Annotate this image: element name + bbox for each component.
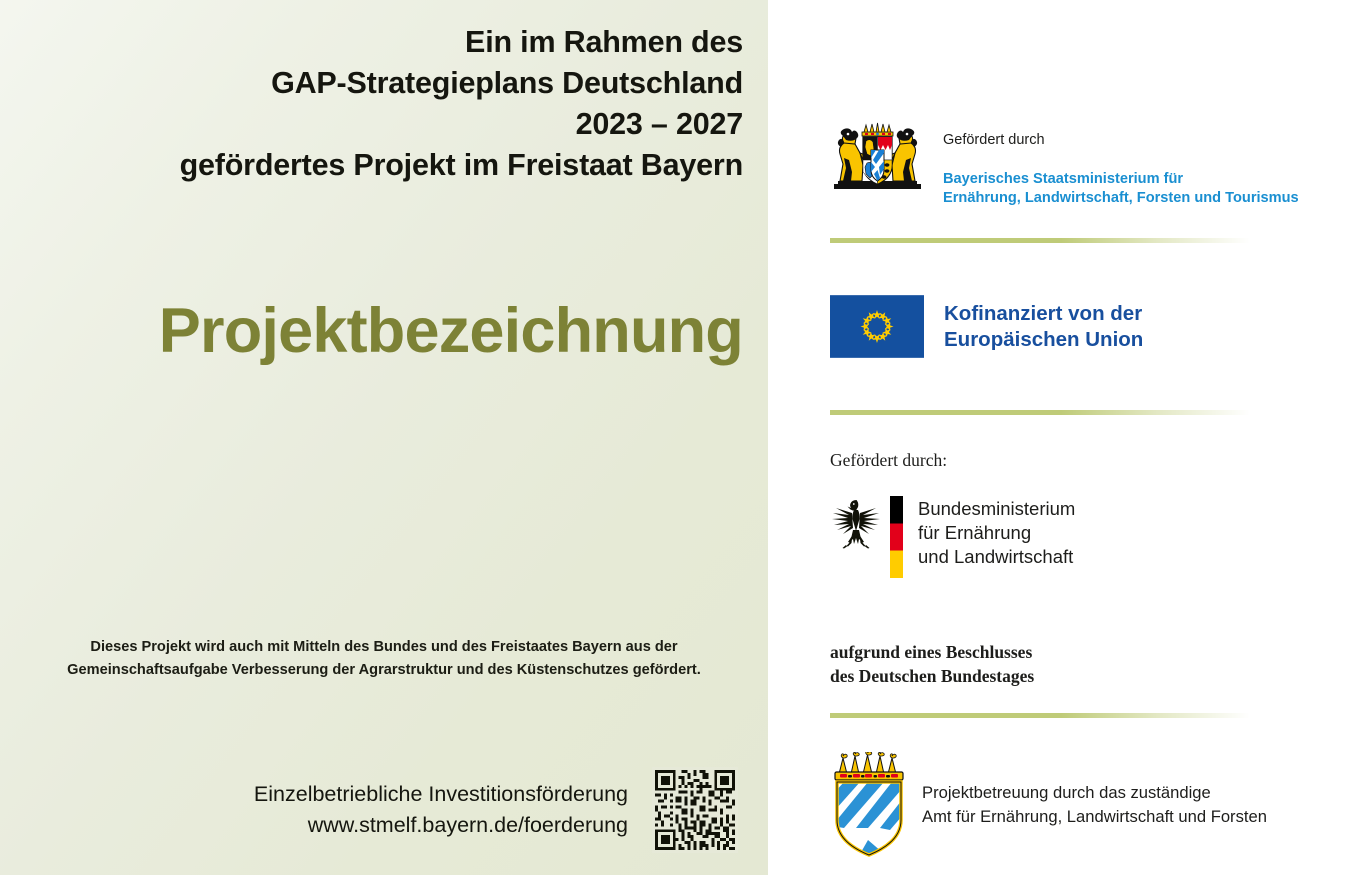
stmelf-name: Bayerisches Staatsministerium für Ernähr… <box>943 170 1299 209</box>
eu-text-line-1: Kofinanziert von der <box>944 301 1143 327</box>
eu-text-line-2: Europäischen Union <box>944 327 1143 353</box>
bmel-name-line-3: und Landwirtschaft <box>918 545 1075 569</box>
bmel-logo-block: Bundesministerium für Ernährung und Land… <box>830 495 1075 578</box>
funding-note: Dieses Projekt wird auch mit Mitteln des… <box>24 636 744 681</box>
bundestag-line-2: des Deutschen Bundestages <box>830 665 1034 689</box>
programme-label: Einzelbetriebliche Investitionsförderung <box>254 779 628 810</box>
subtitle-line-1: Ein im Rahmen des <box>23 22 743 63</box>
aelf-block: Projektbetreuung durch das zuständige Am… <box>830 752 1267 857</box>
divider-3 <box>830 713 1250 718</box>
subtitle-line-2: GAP-Strategieplans Deutschland <box>23 63 743 104</box>
aelf-text-line-2: Amt für Ernährung, Landwirtschaft und Fo… <box>922 805 1267 829</box>
funding-note-line-2: Gemeinschaftsaufgabe Verbesserung der Ag… <box>24 659 744 682</box>
bmel-eyebrow: Gefördert durch: <box>830 450 947 471</box>
stmelf-eyebrow: Gefördert durch <box>943 132 1299 148</box>
stmelf-text: Gefördert durch Bayerisches Staatsminist… <box>943 120 1299 209</box>
bundesadler-eagle-icon <box>830 497 882 559</box>
subtitle-line-3: 2023 – 2027 <box>23 104 743 145</box>
stmelf-name-line-2: Ernährung, Landwirtschaft, Forsten und T… <box>943 189 1299 208</box>
programme-footer: Einzelbetriebliche Investitionsförderung… <box>24 767 738 853</box>
divider-2 <box>830 410 1250 415</box>
bundestag-line-1: aufgrund eines Beschlusses <box>830 641 1034 665</box>
aelf-text: Projektbetreuung durch das zuständige Am… <box>922 781 1267 828</box>
left-panel: Ein im Rahmen des GAP-Strategieplans Deu… <box>0 0 768 875</box>
programme-subtitle: Ein im Rahmen des GAP-Strategieplans Deu… <box>23 22 743 185</box>
funding-note-line-1: Dieses Projekt wird auch mit Mitteln des… <box>24 636 744 659</box>
subtitle-line-4: gefördertes Projekt im Freistaat Bayern <box>23 145 743 186</box>
bmel-name: Bundesministerium für Ernährung und Land… <box>918 495 1075 569</box>
germany-flag-bar-icon <box>890 496 903 578</box>
page-title: Projektbezeichnung <box>23 300 743 363</box>
stmelf-logo-block: Gefördert durch Bayerisches Staatsminist… <box>830 120 1299 209</box>
qr-code[interactable] <box>652 767 738 853</box>
bavarian-shield-icon <box>830 752 908 857</box>
programme-url[interactable]: www.stmelf.bayern.de/foerderung <box>254 810 628 841</box>
project-sign-board: Ein im Rahmen des GAP-Strategieplans Deu… <box>0 0 1352 875</box>
eu-text: Kofinanziert von der Europäischen Union <box>944 301 1143 352</box>
bayern-coat-of-arms-icon <box>830 120 925 192</box>
eu-logo-block: Kofinanziert von der Europäischen Union <box>830 295 1143 358</box>
right-panel: Gefördert durch Bayerisches Staatsminist… <box>768 0 1352 875</box>
divider-1 <box>830 238 1250 243</box>
european-union-flag-icon <box>830 295 924 358</box>
bmel-name-line-2: für Ernährung <box>918 521 1075 545</box>
aelf-text-line-1: Projektbetreuung durch das zuständige <box>922 781 1267 805</box>
programme-info: Einzelbetriebliche Investitionsförderung… <box>254 779 628 840</box>
bundestag-note: aufgrund eines Beschlusses des Deutschen… <box>830 641 1034 688</box>
stmelf-name-line-1: Bayerisches Staatsministerium für <box>943 170 1299 189</box>
bmel-name-line-1: Bundesministerium <box>918 497 1075 521</box>
